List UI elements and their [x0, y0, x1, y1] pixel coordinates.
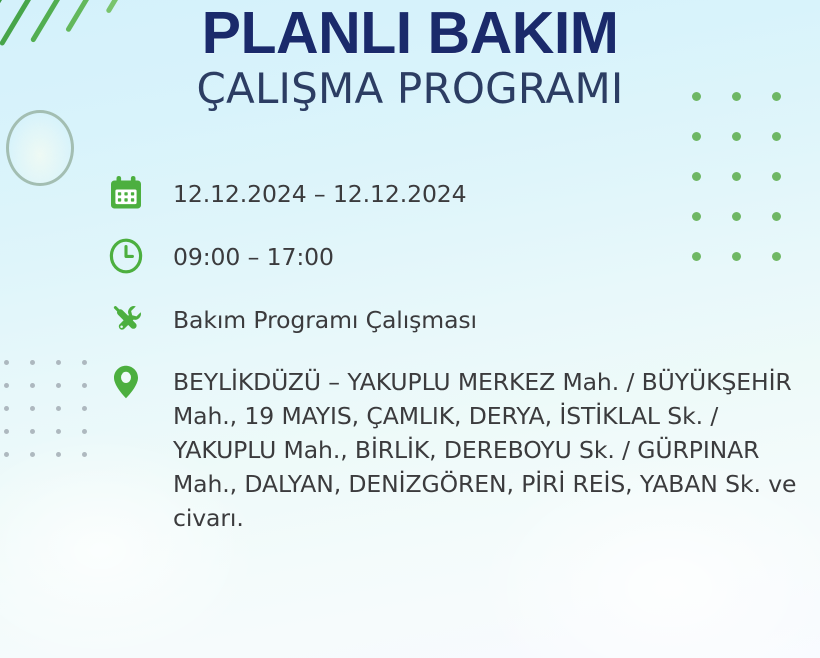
info-row-date: 12.12.2024 – 12.12.2024 [103, 174, 820, 216]
dot-decoration [772, 132, 781, 141]
location-line: Mah., 19 MAYIS, ÇAMLIK, DERYA, İSTİKLAL … [173, 399, 796, 433]
date-range-text: 12.12.2024 – 12.12.2024 [149, 174, 467, 211]
tools-icon [103, 296, 149, 342]
page-title: PLANLI BAKIM [0, 2, 820, 64]
planned-maintenance-poster: PLANLI BAKIM ÇALIŞMA PROGRAMI [0, 0, 820, 658]
clock-icon [103, 233, 149, 279]
time-range-text: 09:00 – 17:00 [149, 237, 334, 274]
location-line: civarı. [173, 501, 796, 535]
info-row-work-type: Bakım Programı Çalışması [103, 300, 820, 342]
info-list: 12.12.2024 – 12.12.2024 09:00 – 17:00 [0, 174, 820, 535]
location-text: BEYLİKDÜZÜ – YAKUPLU MERKEZ Mah. / BÜYÜK… [149, 363, 796, 535]
dot-decoration [692, 132, 701, 141]
page-subtitle: ÇALIŞMA PROGRAMI [0, 66, 820, 112]
map-pin-icon [103, 359, 149, 405]
location-line: BEYLİKDÜZÜ – YAKUPLU MERKEZ Mah. / BÜYÜK… [173, 365, 796, 399]
poster-header: PLANLI BAKIM ÇALIŞMA PROGRAMI [0, 0, 820, 112]
info-row-time: 09:00 – 17:00 [103, 237, 820, 279]
info-row-location: BEYLİKDÜZÜ – YAKUPLU MERKEZ Mah. / BÜYÜK… [103, 363, 820, 535]
location-line: Mah., DALYAN, DENİZGÖREN, PİRİ REİS, YAB… [173, 467, 796, 501]
location-line: YAKUPLU Mah., BİRLİK, DEREBOYU Sk. / GÜR… [173, 433, 796, 467]
work-type-text: Bakım Programı Çalışması [149, 300, 477, 337]
calendar-icon [103, 170, 149, 216]
dot-decoration [732, 132, 741, 141]
